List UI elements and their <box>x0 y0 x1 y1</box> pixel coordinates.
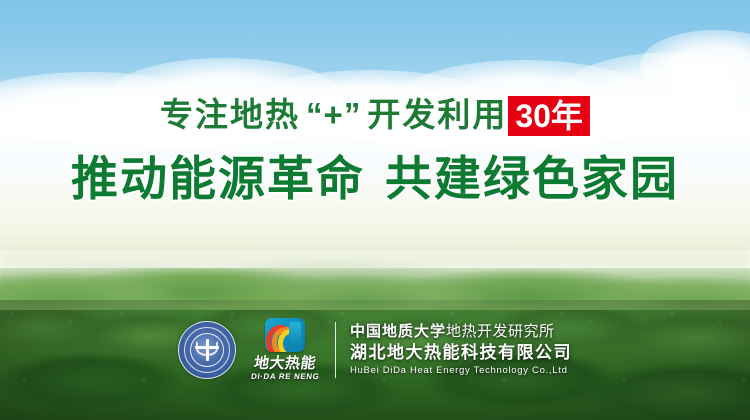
rainbow-tile-icon <box>265 318 305 352</box>
anniversary-badge: 30年 <box>508 96 590 136</box>
company-name-chinese: 湖北地大热能科技有限公司 <box>350 342 572 364</box>
subheadline-plus-symbol: “+” <box>300 92 367 138</box>
subheadline-prefix: 专注地热 <box>160 92 300 138</box>
company-logo: 地大热能 DI·DA RE NENG <box>249 318 321 382</box>
main-headline-left: 推动能源革命 <box>71 152 365 205</box>
subheadline-suffix: 开发利用 <box>367 92 507 138</box>
company-logo-pinyin-name: DI·DA RE NENG <box>250 372 320 382</box>
company-name-english: HuBei DiDa Heat Energy Technology Co.,Lt… <box>350 364 572 378</box>
main-headline: 推动能源革命共建绿色家园 <box>0 150 750 208</box>
headline-block: 专注地热 “+” 开发利用 30年 推动能源革命共建绿色家园 <box>0 92 750 208</box>
seal-stem-glyph <box>206 339 209 361</box>
banner-root: 专注地热 “+” 开发利用 30年 推动能源革命共建绿色家园 <box>0 0 750 420</box>
main-headline-right: 共建绿色家园 <box>385 152 679 205</box>
brand-text-block: 中国地质大学地热开发研究所 湖北地大热能科技有限公司 HuBei DiDa He… <box>350 322 572 378</box>
university-seal-icon <box>178 321 236 379</box>
tile-notch-shape <box>289 322 301 348</box>
seal-inner-disc <box>190 333 224 367</box>
subheadline: 专注地热 “+” 开发利用 30年 <box>0 92 750 138</box>
company-logo-chinese-name: 地大热能 <box>253 355 317 372</box>
university-name: 中国地质大学 <box>350 323 446 340</box>
institute-line: 中国地质大学地热开发研究所 <box>350 322 572 342</box>
brand-divider <box>335 322 336 378</box>
brand-bar: 地大热能 DI·DA RE NENG 中国地质大学地热开发研究所 湖北地大热能科… <box>0 316 750 384</box>
institute-name: 地热开发研究所 <box>446 323 555 340</box>
